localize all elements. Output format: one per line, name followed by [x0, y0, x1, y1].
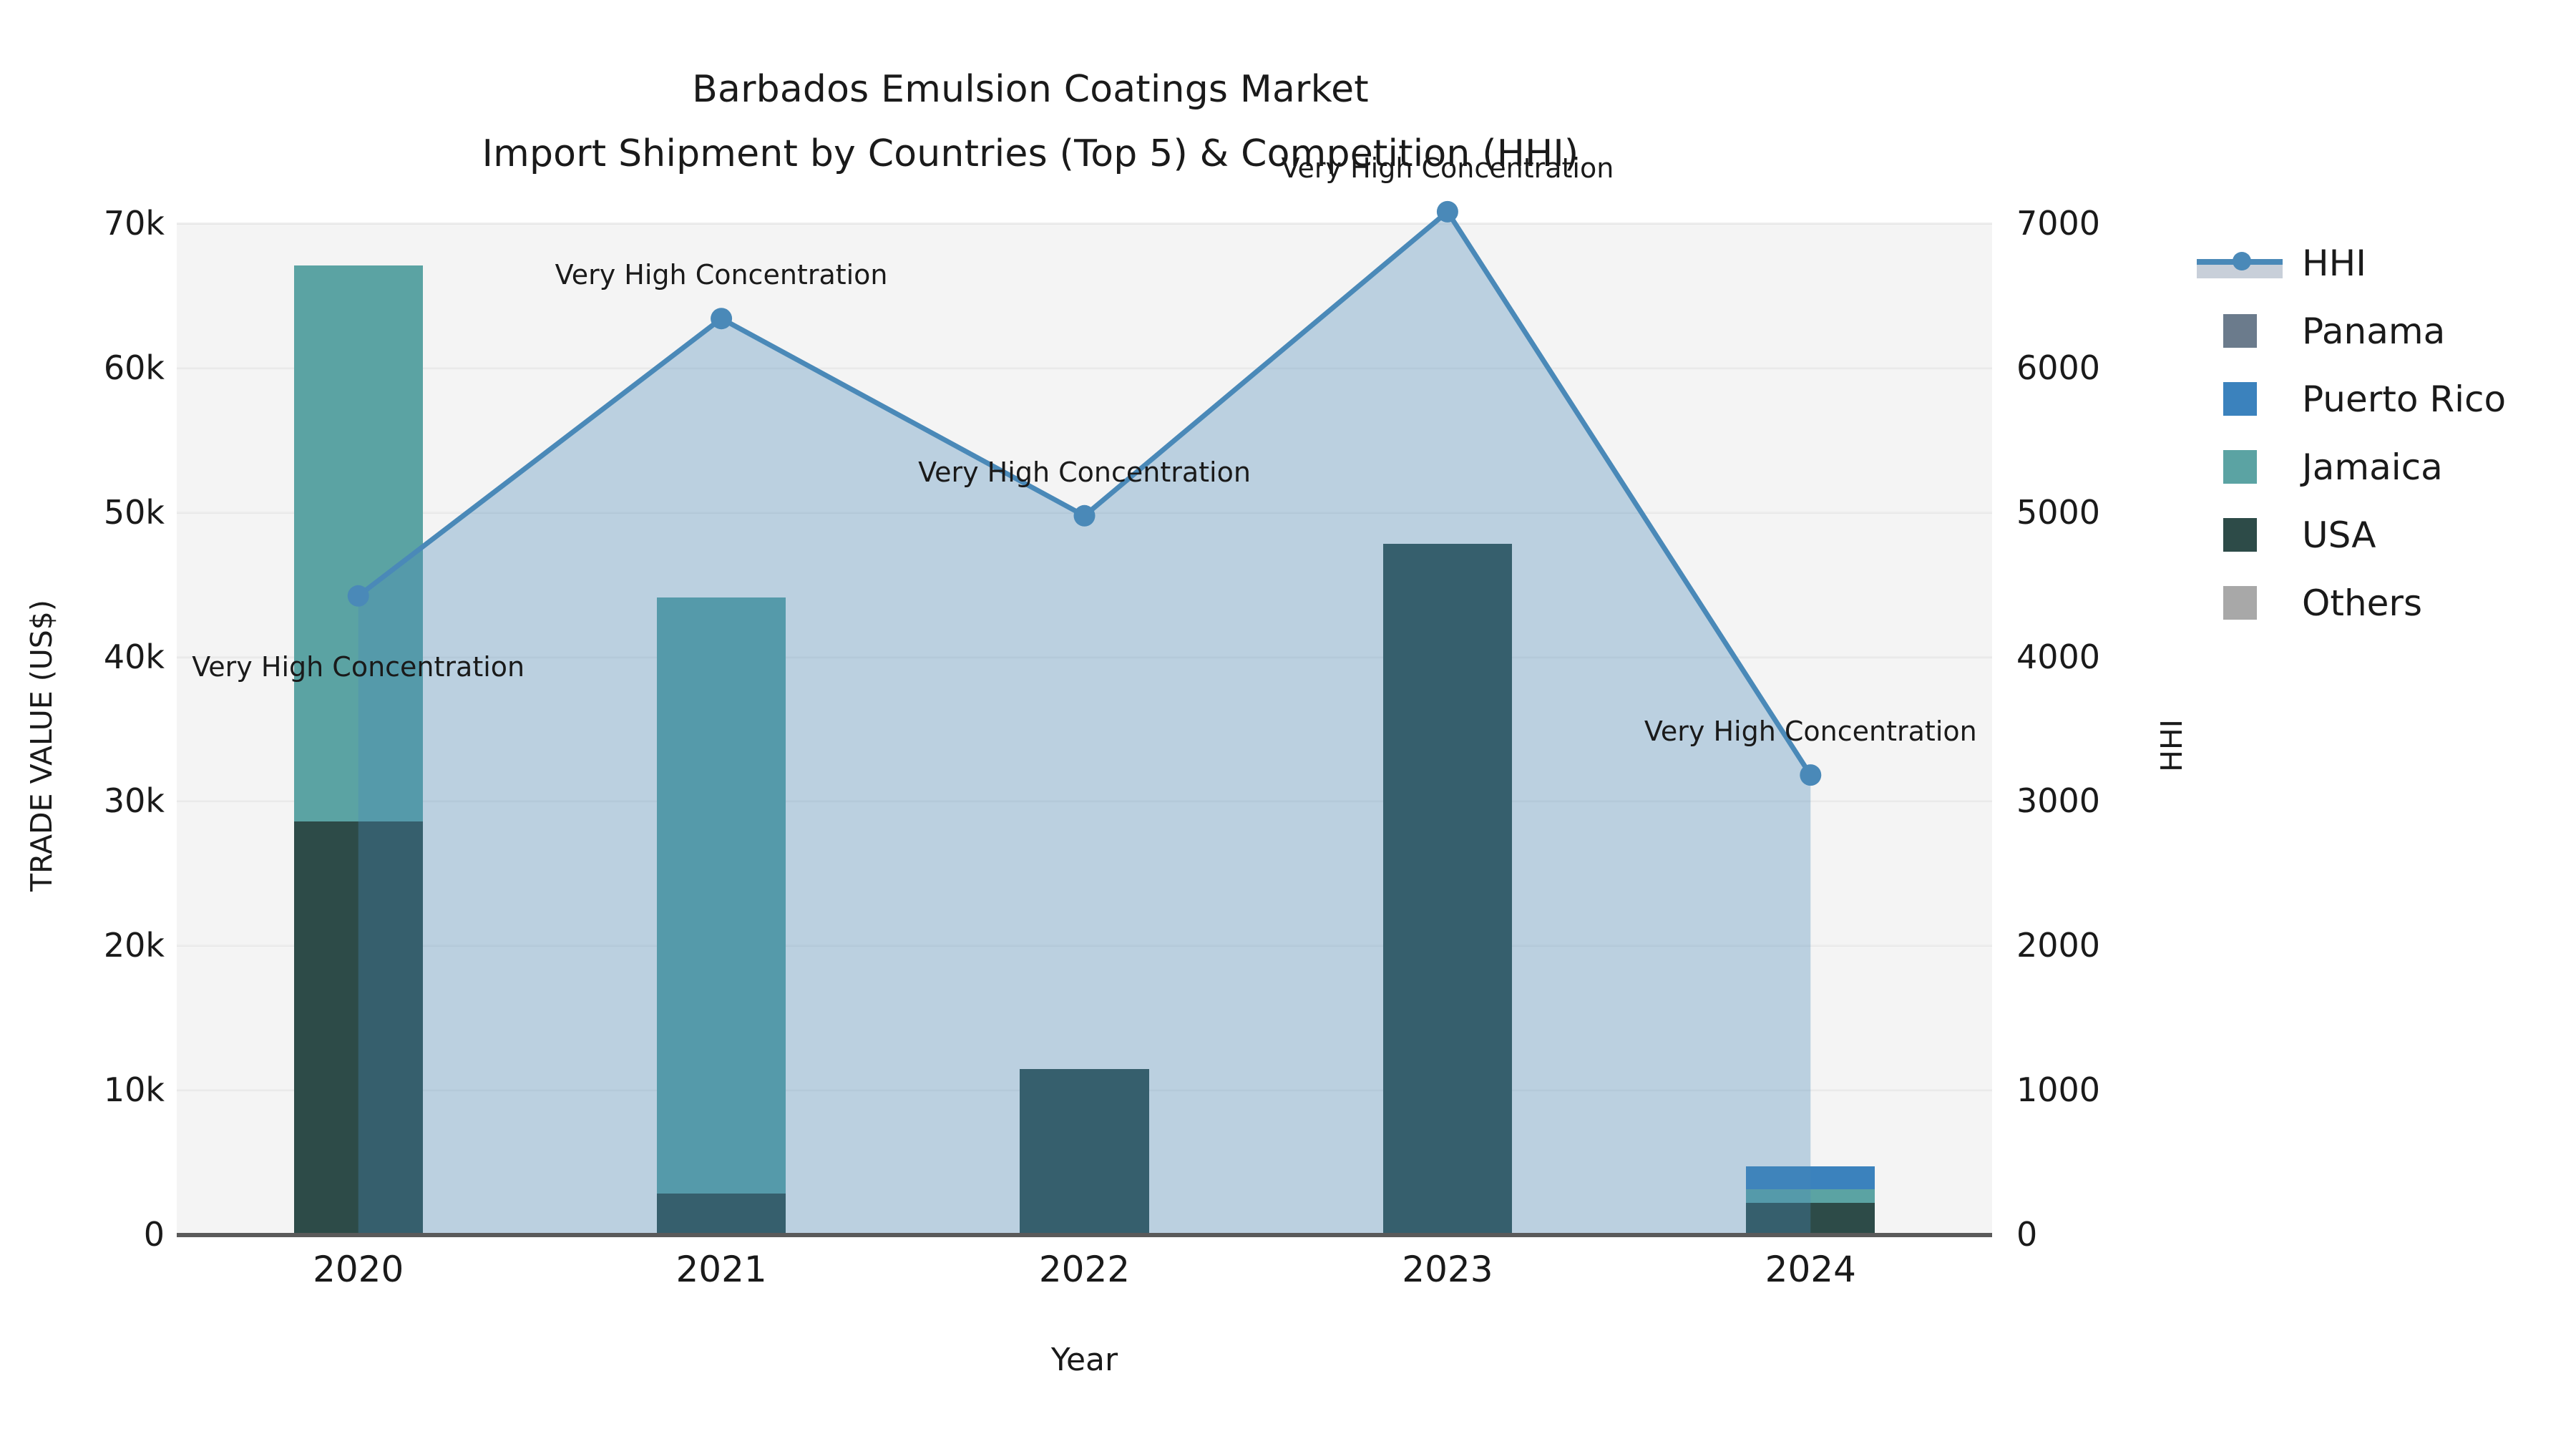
legend-item-puerto-rico[interactable]: Puerto Rico [2193, 365, 2506, 433]
hhi-marker-2023[interactable] [1437, 201, 1458, 223]
y-axis-left-title: TRADE VALUE (US$) [24, 495, 59, 996]
chart-title: Barbados Emulsion Coatings Market Import… [0, 57, 2061, 186]
x-tick-2021: 2021 [614, 1249, 829, 1290]
hhi-marker-2024[interactable] [1800, 764, 1821, 786]
y-tick-right: 0 [2016, 1215, 2231, 1254]
annotation-2022: Very High Concentration [918, 457, 1251, 488]
legend-swatch-icon [2223, 518, 2257, 552]
legend-label: Puerto Rico [2302, 379, 2506, 420]
annotation-2020: Very High Concentration [192, 651, 525, 683]
chart-title-line-2: Import Shipment by Countries (Top 5) & C… [0, 122, 2061, 186]
legend-label: Panama [2302, 311, 2445, 352]
y-tick-left: 0 [0, 1215, 165, 1254]
legend-label: USA [2302, 514, 2376, 556]
hhi-area-fill [358, 212, 1811, 1234]
chart-canvas: Barbados Emulsion Coatings Market Import… [0, 0, 2576, 1449]
hhi-marker-2021[interactable] [711, 308, 732, 329]
x-tick-2022: 2022 [977, 1249, 1192, 1290]
legend-item-panama[interactable]: Panama [2193, 297, 2506, 365]
annotation-2024: Very High Concentration [1644, 716, 1977, 747]
legend-item-usa[interactable]: USA [2193, 501, 2506, 569]
legend-swatch-wrap [2193, 586, 2286, 620]
legend-label: HHI [2302, 243, 2366, 284]
legend-swatch-icon [2223, 382, 2257, 416]
y-tick-left: 60k [0, 348, 165, 387]
legend-item-jamaica[interactable]: Jamaica [2193, 433, 2506, 501]
legend-marker-dot-icon [2233, 252, 2251, 270]
annotation-2023: Very High Concentration [1281, 152, 1614, 184]
chart-title-line-1: Barbados Emulsion Coatings Market [0, 57, 2061, 122]
legend-swatch-icon [2223, 314, 2257, 348]
y-tick-left: 70k [0, 204, 165, 243]
y-tick-right: 1000 [2016, 1070, 2231, 1109]
x-tick-2020: 2020 [251, 1249, 466, 1290]
y-tick-right: 4000 [2016, 638, 2231, 676]
legend-line-key-icon [2193, 246, 2286, 280]
legend-swatch-wrap [2193, 314, 2286, 348]
hhi-marker-2020[interactable] [348, 585, 369, 607]
legend-label: Others [2302, 582, 2422, 624]
x-axis-line [177, 1233, 1992, 1237]
legend-swatch-icon [2223, 586, 2257, 620]
y-tick-left: 10k [0, 1070, 165, 1109]
hhi-marker-2022[interactable] [1074, 505, 1096, 527]
legend-swatch-wrap [2193, 382, 2286, 416]
x-tick-2024: 2024 [1703, 1249, 1918, 1290]
annotation-2021: Very High Concentration [555, 259, 888, 291]
y-tick-right: 3000 [2016, 781, 2231, 820]
legend-item-hhi[interactable]: HHI [2193, 229, 2506, 297]
x-axis-title: Year [177, 1342, 1992, 1378]
y-tick-right: 2000 [2016, 926, 2231, 965]
legend-label: Jamaica [2302, 447, 2443, 488]
legend-swatch-icon [2223, 450, 2257, 484]
x-tick-2023: 2023 [1340, 1249, 1555, 1290]
y-axis-right-title: HHI [2155, 495, 2189, 996]
legend-swatch-wrap [2193, 450, 2286, 484]
legend: HHIPanamaPuerto RicoJamaicaUSAOthers [2193, 229, 2506, 637]
legend-swatch-wrap [2193, 518, 2286, 552]
legend-item-others[interactable]: Others [2193, 569, 2506, 637]
